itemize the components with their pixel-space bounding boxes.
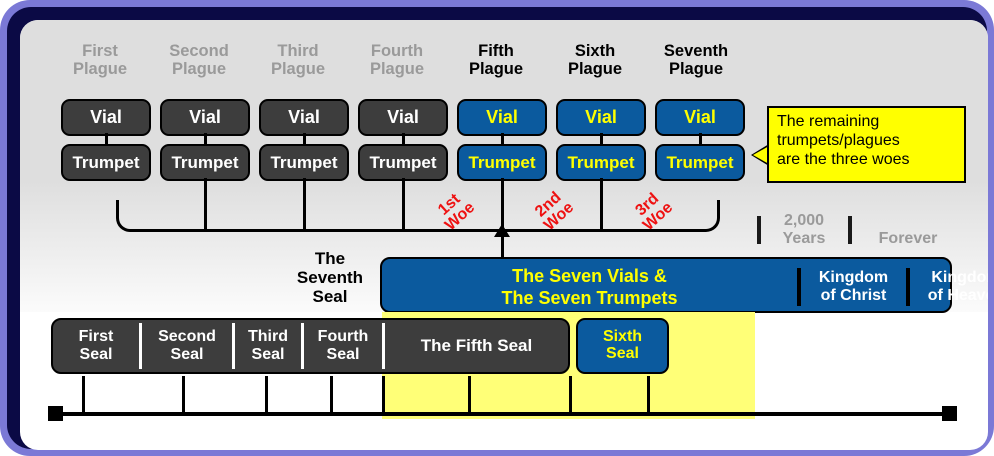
banner-title-line1: The Seven Vials & [501, 265, 677, 288]
vial-box-3[interactable]: Vial [259, 99, 349, 136]
plague-header-4: Fourth Plague [347, 42, 447, 79]
timeline-start-cap [48, 406, 63, 421]
seal-second-line1: Second [158, 328, 216, 346]
trumpet-label-1: Trumpet [72, 154, 139, 172]
trumpet-box-1[interactable]: Trumpet [61, 144, 151, 181]
seal-third-line2: Seal [248, 346, 288, 364]
plague-header-5: Fifth Plague [446, 42, 546, 79]
trumpet-label-7: Trumpet [666, 154, 733, 172]
trumpet-label-4: Trumpet [369, 154, 436, 172]
plague-header-1: First Plague [50, 42, 150, 79]
timeline-tick-6 [468, 376, 471, 414]
seal-first-line1: First [79, 328, 114, 346]
plague-header-6-line1: Sixth [545, 42, 645, 60]
plague-header-7: Seventh Plague [644, 42, 748, 79]
banner-title: The Seven Vials & The Seven Trumpets [382, 263, 797, 311]
plague-header-4-line2: Plague [347, 60, 447, 78]
era-label-forever: Forever [858, 230, 958, 248]
vial-label-6: Vial [585, 108, 617, 127]
seal-first[interactable]: First Seal [53, 320, 139, 372]
callout-line3: are the three woes [777, 151, 956, 170]
vial-box-7[interactable]: Vial [655, 99, 745, 136]
era-tick-1 [757, 216, 761, 244]
plague-header-4-line1: Fourth [347, 42, 447, 60]
vial-box-2[interactable]: Vial [160, 99, 250, 136]
seal-first-line2: Seal [79, 346, 114, 364]
callout-line2: trumpets/plagues [777, 132, 956, 151]
timeline-end-cap [942, 406, 957, 421]
kingdom-of-heaven: Kingdom of Heaven [910, 263, 988, 311]
seventh-seal-label: The Seventh Seal [284, 249, 376, 306]
kingdom-of-heaven-line2: of Heaven [928, 287, 988, 305]
trumpet-box-2[interactable]: Trumpet [160, 144, 250, 181]
seal-third[interactable]: Third Seal [235, 320, 301, 372]
era-tick-2 [848, 216, 852, 244]
diagram-canvas: First Plague Second Plague Third Plague … [20, 20, 988, 450]
timeline-tick-1 [82, 376, 85, 414]
plague-header-3-line2: Plague [248, 60, 348, 78]
seal-second[interactable]: Second Seal [142, 320, 232, 372]
vial-label-7: Vial [684, 108, 716, 127]
trumpet-label-6: Trumpet [567, 154, 634, 172]
timeline-tick-5 [382, 376, 385, 414]
seventh-seal-line1: The [284, 249, 376, 268]
timeline-tick-3 [265, 376, 268, 414]
timeline-tick-7 [569, 376, 572, 414]
seal-sixth-line1: Sixth [603, 329, 642, 346]
seventh-seal-line2: Seventh [284, 268, 376, 287]
era-label-1-line1: 2,000 [764, 212, 844, 230]
kingdom-of-christ-line2: of Christ [819, 287, 888, 305]
kingdom-of-christ: Kingdom of Christ [801, 263, 906, 311]
plague-header-1-line1: First [50, 42, 150, 60]
seal-fifth[interactable]: The Fifth Seal [385, 320, 568, 372]
seal-fourth-line2: Seal [318, 346, 369, 364]
era-label-2000-years: 2,000 Years [764, 212, 844, 248]
banner-to-bracket-arrow-head [494, 224, 510, 237]
vial-box-4[interactable]: Vial [358, 99, 448, 136]
plague-header-2: Second Plague [149, 42, 249, 79]
trumpet-box-4[interactable]: Trumpet [358, 144, 448, 181]
timeline-tick-2 [182, 376, 185, 414]
seal-fourth[interactable]: Fourth Seal [304, 320, 382, 372]
vial-label-2: Vial [189, 108, 221, 127]
callout-note: The remaining trumpets/plagues are the t… [767, 106, 966, 183]
seal-second-line2: Seal [158, 346, 216, 364]
plague-header-3: Third Plague [248, 42, 348, 79]
plague-header-5-line1: Fifth [446, 42, 546, 60]
era-label-2-line1: Forever [858, 230, 958, 248]
plague-header-7-line1: Seventh [644, 42, 748, 60]
seal-sixth[interactable]: Sixth Seal [576, 318, 669, 374]
plague-header-5-line2: Plague [446, 60, 546, 78]
seal-fifth-label: The Fifth Seal [421, 336, 532, 355]
callout-line1: The remaining [777, 113, 956, 132]
decorative-inner-frame: First Plague Second Plague Third Plague … [7, 7, 987, 449]
trumpet-label-3: Trumpet [270, 154, 337, 172]
seven-vials-trumpets-banner[interactable]: The Seven Vials & The Seven Trumpets Kin… [380, 257, 952, 313]
timeline-axis [51, 412, 954, 416]
timeline-tick-4 [330, 376, 333, 414]
plague-header-7-line2: Plague [644, 60, 748, 78]
kingdom-of-heaven-line1: Kingdom [928, 269, 988, 287]
plague-header-2-line1: Second [149, 42, 249, 60]
vial-box-6[interactable]: Vial [556, 99, 646, 136]
seventh-seal-line3: Seal [284, 287, 376, 306]
seal-fourth-line1: Fourth [318, 328, 369, 346]
decorative-outer-frame: First Plague Second Plague Third Plague … [0, 0, 994, 456]
vial-label-1: Vial [90, 108, 122, 127]
plague-header-6: Sixth Plague [545, 42, 645, 79]
timeline-tick-8 [647, 376, 650, 414]
plague-header-2-line2: Plague [149, 60, 249, 78]
seal-third-line1: Third [248, 328, 288, 346]
era-label-1-line2: Years [764, 230, 844, 248]
plague-header-6-line2: Plague [545, 60, 645, 78]
trumpet-label-2: Trumpet [171, 154, 238, 172]
trumpet-box-3[interactable]: Trumpet [259, 144, 349, 181]
vial-box-5[interactable]: Vial [457, 99, 547, 136]
banner-title-line2: The Seven Trumpets [501, 287, 677, 310]
kingdom-of-christ-line1: Kingdom [819, 269, 888, 287]
seal-sixth-line2: Seal [603, 346, 642, 363]
vial-box-1[interactable]: Vial [61, 99, 151, 136]
seals-bar[interactable]: First Seal Second Seal Third Seal [51, 318, 570, 374]
vial-label-5: Vial [486, 108, 518, 127]
plague-header-1-line2: Plague [50, 60, 150, 78]
trumpet-label-5: Trumpet [468, 154, 535, 172]
vial-label-4: Vial [387, 108, 419, 127]
plague-header-3-line1: Third [248, 42, 348, 60]
vial-label-3: Vial [288, 108, 320, 127]
